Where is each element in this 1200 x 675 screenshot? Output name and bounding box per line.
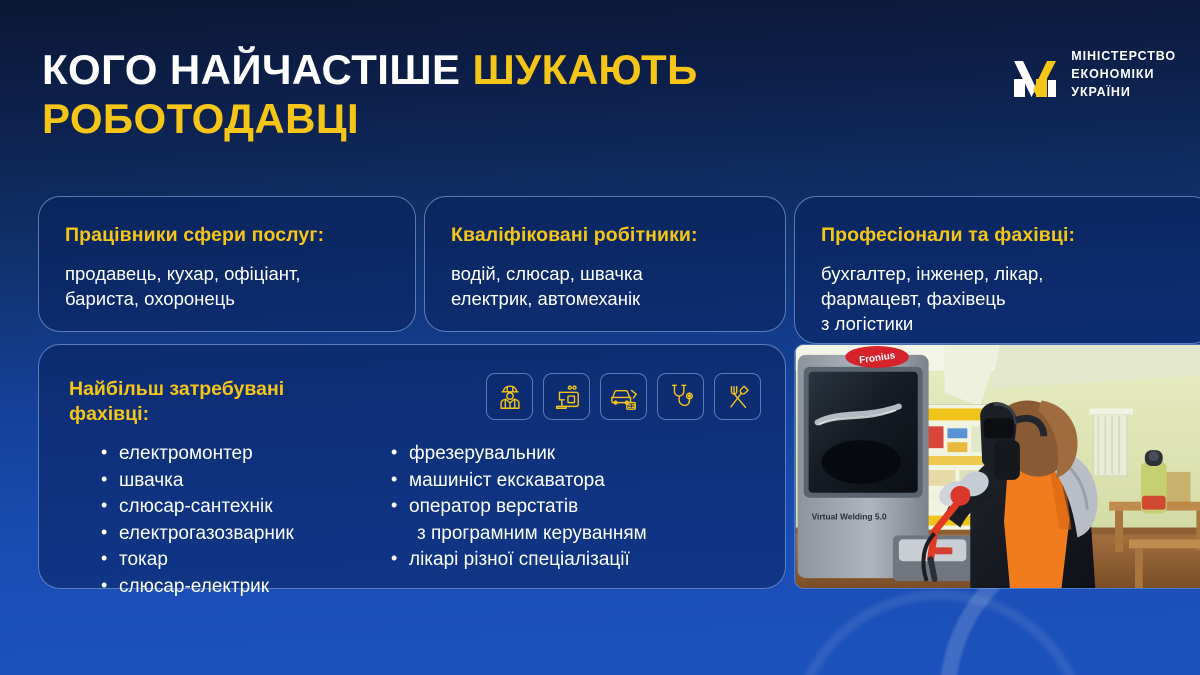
ministry-m-logo-icon	[1012, 52, 1058, 98]
list-item: електрогазозварник	[97, 521, 387, 548]
card-body-line: з логістики	[821, 311, 1187, 336]
list-item: машиніст екскаватора	[387, 468, 763, 495]
card-heading: Кваліфіковані робітники:	[451, 224, 759, 248]
slide-root: КОГО НАЙЧАСТІШЕ ШУКАЮТЬ РОБОТОДАВЦІ МІНІ…	[0, 0, 1200, 675]
title-part-highlight-2: РОБОТОДАВЦІ	[42, 95, 359, 142]
card-body-line: водій, слюсар, швачка	[451, 261, 759, 286]
logo-line-3: УКРАЇНИ	[1071, 84, 1176, 102]
icon-box-sewing-machine	[543, 373, 590, 420]
car-repair-icon	[609, 382, 639, 412]
card-body: продавець, кухар, офіціант, бариста, охо…	[65, 261, 389, 311]
demand-lists: електромонтер швачка слюсар-сантехнік ел…	[69, 441, 763, 600]
page-title: КОГО НАЙЧАСТІШЕ ШУКАЮТЬ РОБОТОДАВЦІ	[42, 46, 872, 143]
card-body-line: продавець, кухар, офіціант,	[65, 261, 389, 286]
stethoscope-icon	[666, 382, 696, 412]
welding-simulator-illustration: Fronius Virtual Welding 5.0	[795, 345, 1200, 588]
list-item: швачка	[97, 468, 387, 495]
list-item: слюсар-електрик	[97, 574, 387, 601]
card-most-demanded-specialists: Найбільш затребувані фахівці:	[38, 344, 786, 589]
card-professionals: Професіонали та фахівці: бухгалтер, інже…	[794, 196, 1200, 344]
construction-worker-icon	[495, 382, 525, 412]
occupation-icon-row	[486, 373, 761, 420]
card-service-workers: Працівники сфери послуг: продавець, куха…	[38, 196, 416, 332]
icon-box-stethoscope	[657, 373, 704, 420]
list-item: слюсар-сантехнік	[97, 494, 387, 521]
svg-text:Virtual Welding 5.0: Virtual Welding 5.0	[812, 512, 887, 522]
card-heading: Професіонали та фахівці:	[821, 224, 1187, 248]
card-skilled-workers: Кваліфіковані робітники: водій, слюсар, …	[424, 196, 786, 332]
icon-box-fork-and-spatula	[714, 373, 761, 420]
logo-line-2: ЕКОНОМІКИ	[1071, 66, 1176, 84]
demand-heading: Найбільш затребувані фахівці:	[69, 377, 399, 427]
demand-list-column-right: фрезерувальник машиніст екскаватора опер…	[387, 441, 763, 600]
list-item-continuation: з програмним керуванням	[387, 521, 763, 548]
list-item: токар	[97, 547, 387, 574]
card-body-line: електрик, автомеханік	[451, 286, 759, 311]
ministry-logo: МІНІСТЕРСТВО ЕКОНОМІКИ УКРАЇНИ	[1012, 48, 1176, 101]
card-body-line: фармацевт, фахівець	[821, 286, 1187, 311]
title-part-highlight-1: ШУКАЮТЬ	[472, 46, 697, 93]
card-body: бухгалтер, інженер, лікар, фармацевт, фа…	[821, 261, 1187, 336]
demand-heading-line-1: Найбільш затребувані	[69, 377, 399, 402]
icon-box-construction-worker	[486, 373, 533, 420]
ministry-logo-text: МІНІСТЕРСТВО ЕКОНОМІКИ УКРАЇНИ	[1071, 48, 1176, 101]
list-item: електромонтер	[97, 441, 387, 468]
list-item: лікарі різної спеціалізації	[387, 547, 763, 574]
card-heading: Працівники сфери послуг:	[65, 224, 389, 248]
sewing-machine-icon	[552, 382, 582, 412]
decorative-arc-secondary	[790, 590, 1090, 675]
card-body: водій, слюсар, швачка електрик, автомеха…	[451, 261, 759, 311]
demand-heading-line-2: фахівці:	[69, 402, 399, 427]
title-part-white: КОГО НАЙЧАСТІШЕ	[42, 46, 472, 93]
card-body-line: бухгалтер, інженер, лікар,	[821, 261, 1187, 286]
list-item: оператор верстатів	[387, 494, 763, 521]
demand-list-column-left: електромонтер швачка слюсар-сантехнік ел…	[69, 441, 387, 600]
card-body-line: бариста, охоронець	[65, 286, 389, 311]
list-item: фрезерувальник	[387, 441, 763, 468]
welding-simulator-photo: Fronius Virtual Welding 5.0	[794, 344, 1200, 589]
fork-and-spatula-icon	[723, 382, 753, 412]
icon-box-car-repair	[600, 373, 647, 420]
logo-line-1: МІНІСТЕРСТВО	[1071, 48, 1176, 66]
